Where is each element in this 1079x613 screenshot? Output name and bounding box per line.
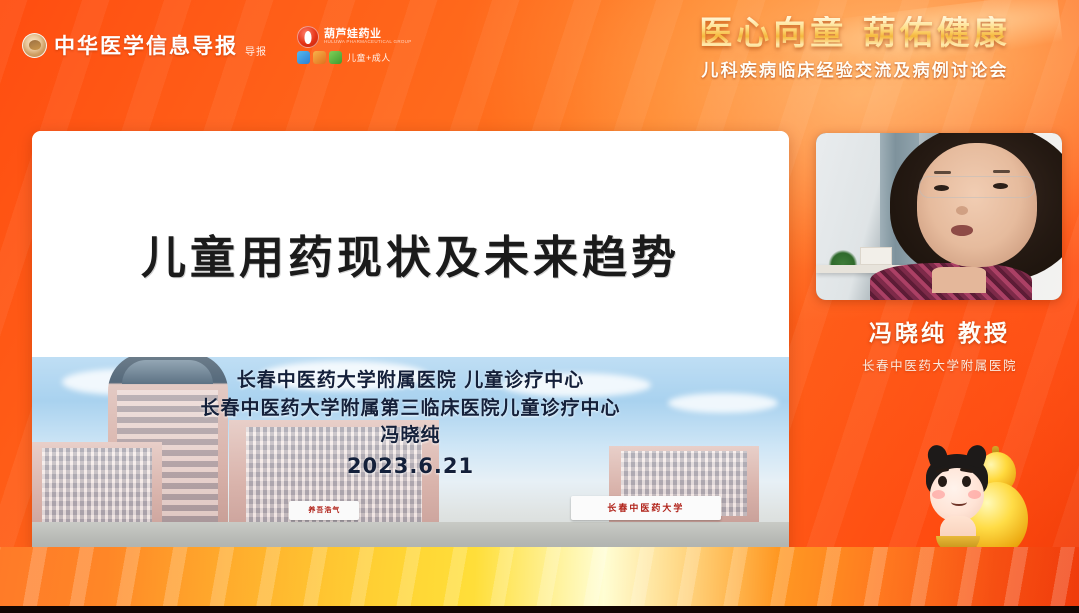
logo-china-medical-tribune: 中华医学信息导报 导报 (22, 30, 267, 60)
slide-title: 儿童用药现状及未来趋势 (32, 221, 789, 286)
logo-suffix: 导报 (245, 43, 267, 60)
presenter-eye-left (934, 185, 949, 191)
logo-wordmark: 中华医学信息导报 (54, 30, 238, 60)
mascot-cheek-right (968, 490, 981, 499)
logo-sub-text: HULUWA PHARMACEUTICAL GROUP (324, 40, 412, 45)
logo-text-block: 葫芦娃药业 HULUWA PHARMACEUTICAL GROUP (324, 29, 412, 45)
broadcast-stage: 中华医学信息导报 导报 葫芦娃药业 HULUWA PHARMACEUTICAL … (0, 0, 1079, 613)
slide-date: 2023.6.21 (32, 451, 789, 481)
product-chip-group (297, 51, 342, 64)
speaker-name: 冯晓纯 教授 (800, 314, 1079, 348)
presenter-neck (932, 267, 986, 294)
campus-main-sign-text: 长春中医药大学 (607, 501, 684, 514)
logo-primary-row: 葫芦娃药业 HULUWA PHARMACEUTICAL GROUP (297, 26, 412, 48)
speaker-caption: 冯晓纯 教授 长春中医药大学附属医院 (800, 314, 1079, 374)
presenter-face (917, 143, 1038, 267)
slide-subtitle-block: 长春中医药大学附属医院 儿童诊疗中心 长春中医药大学附属第三临床医院儿童诊疗中心… (32, 367, 789, 481)
bottom-light-band (0, 547, 1079, 607)
green-chip-icon (329, 51, 342, 64)
bottom-edge-bar (0, 606, 1079, 613)
slide-presenter-name: 冯晓纯 (32, 422, 789, 450)
campus-main-sign: 长春中医药大学 (571, 496, 721, 520)
chip-caption: 儿童+成人 (347, 51, 391, 64)
mascot-cheek-left (932, 490, 945, 499)
slide-subtitle-line-2: 长春中医药大学附属第三临床医院儿童诊疗中心 (32, 395, 789, 423)
sponsor-logo-group: 中华医学信息导报 导报 葫芦娃药业 HULUWA PHARMACEUTICAL … (22, 26, 412, 64)
circular-seal-icon (22, 33, 47, 58)
mascot-eye-left (938, 476, 947, 487)
mascot-mouth (951, 498, 967, 506)
presenter-brow-left (934, 171, 951, 174)
event-banner: 医心向童 葫佑健康 儿科疾病临床经验交流及病例讨论会 (655, 16, 1055, 81)
orange-chip-icon (313, 51, 326, 64)
mascot-eye-right (962, 476, 971, 487)
logo-calabash-pharma: 葫芦娃药业 HULUWA PHARMACEUTICAL GROUP 儿童+成人 (297, 26, 412, 64)
campus-gate-sign-text: 养吾浩气 (308, 505, 340, 515)
event-title: 医心向童 葫佑健康 (655, 16, 1055, 51)
webcam-box (860, 247, 892, 265)
red-gourd-badge-icon (297, 26, 319, 48)
presentation-slide[interactable]: 长春中医药大学 养吾浩气 儿童用药现状及未来趋势 长春中医药大学附属医院 儿童诊… (32, 131, 789, 558)
logo-secondary-row: 儿童+成人 (297, 51, 412, 64)
presenter-webcam-feed[interactable] (816, 133, 1062, 300)
speaker-organization: 长春中医药大学附属医院 (800, 355, 1079, 374)
campus-gate-sign: 养吾浩气 (289, 501, 359, 520)
blue-chip-icon (297, 51, 310, 64)
event-subtitle: 儿科疾病临床经验交流及病例讨论会 (655, 56, 1055, 81)
presenter-brow-right (993, 170, 1010, 173)
presenter-mouth (951, 225, 973, 236)
slide-subtitle-line-1: 长春中医药大学附属医院 儿童诊疗中心 (32, 367, 789, 395)
